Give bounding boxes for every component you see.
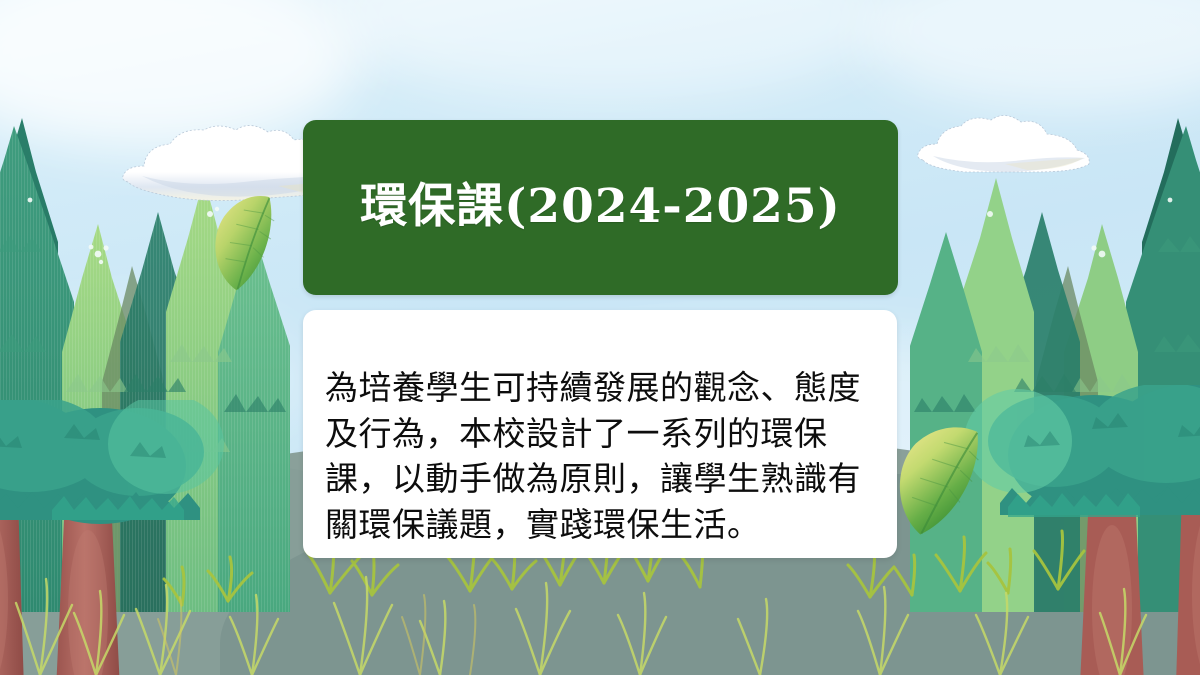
- description-card: 為培養學生可持續發展的觀念、態度及行為，本校設計了一系列的環保課，以動手做為原則…: [303, 310, 897, 558]
- cloud-icon: [915, 110, 1105, 182]
- sky-wisp: [330, 0, 890, 100]
- leaf-icon: [203, 191, 285, 298]
- sky-wisp: [0, 300, 320, 460]
- sky-wisp: [860, 0, 1200, 110]
- description-text: 為培養學生可持續發展的觀念、態度及行為，本校設計了一系列的環保課，以動手做為原則…: [325, 365, 871, 547]
- page-title: 環保課(2024-2025): [360, 181, 841, 234]
- title-banner: 環保課(2024-2025): [303, 120, 898, 295]
- slide-canvas: 環保課(2024-2025) 為培養學生可持續發展的觀念、態度及行為，本校設計了…: [0, 0, 1200, 675]
